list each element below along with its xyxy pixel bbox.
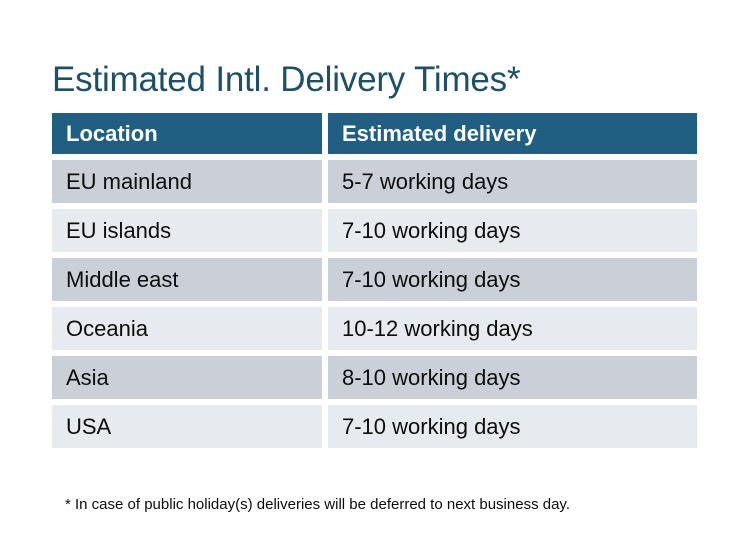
table-body: EU mainland 5-7 working days EU islands …: [52, 160, 697, 448]
cell-estimated-delivery: 8-10 working days: [328, 356, 697, 399]
table-row: Oceania 10-12 working days: [52, 307, 697, 350]
page-title: Estimated Intl. Delivery Times*: [52, 59, 520, 101]
cell-location: Middle east: [52, 258, 322, 301]
delivery-times-page: Estimated Intl. Delivery Times* Location…: [0, 0, 745, 536]
cell-location: EU mainland: [52, 160, 322, 203]
cell-location: USA: [52, 405, 322, 448]
cell-estimated-delivery: 7-10 working days: [328, 209, 697, 252]
cell-estimated-delivery: 7-10 working days: [328, 258, 697, 301]
cell-estimated-delivery: 5-7 working days: [328, 160, 697, 203]
cell-location: EU islands: [52, 209, 322, 252]
delivery-times-table: Location Estimated delivery EU mainland …: [46, 107, 703, 454]
table-row: Middle east 7-10 working days: [52, 258, 697, 301]
table-row: EU islands 7-10 working days: [52, 209, 697, 252]
column-header-estimated-delivery: Estimated delivery: [328, 113, 697, 154]
column-header-location: Location: [52, 113, 322, 154]
cell-estimated-delivery: 10-12 working days: [328, 307, 697, 350]
table-header: Location Estimated delivery: [52, 113, 697, 154]
table-row: Asia 8-10 working days: [52, 356, 697, 399]
cell-location: Oceania: [52, 307, 322, 350]
footnote: * In case of public holiday(s) deliverie…: [65, 495, 570, 515]
table-header-row: Location Estimated delivery: [52, 113, 697, 154]
table-row: USA 7-10 working days: [52, 405, 697, 448]
cell-estimated-delivery: 7-10 working days: [328, 405, 697, 448]
table-row: EU mainland 5-7 working days: [52, 160, 697, 203]
cell-location: Asia: [52, 356, 322, 399]
